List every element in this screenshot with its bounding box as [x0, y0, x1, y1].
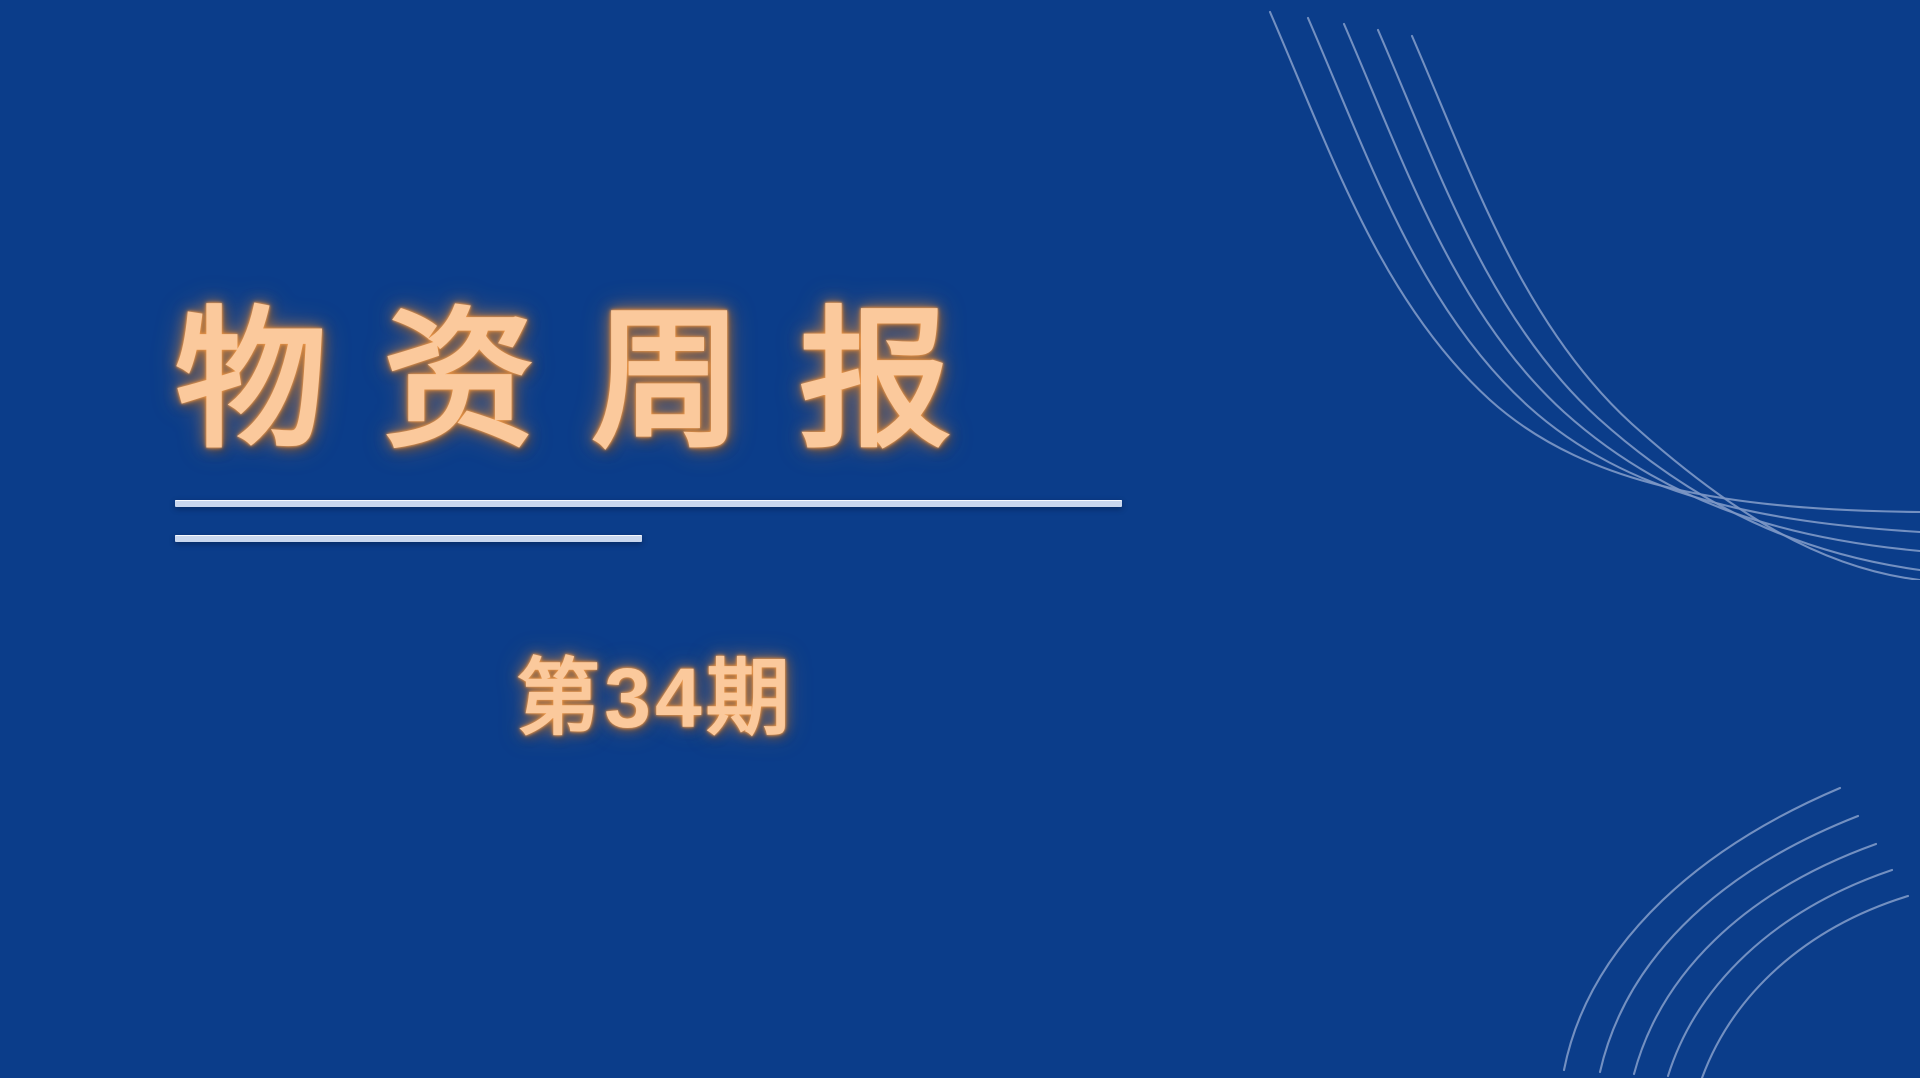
title-underline-long	[175, 500, 1122, 507]
title-block: 物资周报	[175, 296, 1135, 466]
ribbon-line-3	[1344, 24, 1920, 551]
slide-canvas: 物资周报 第34期	[0, 0, 1920, 1078]
ribbon-line-1	[1270, 12, 1920, 512]
ribbon-line-5	[1412, 36, 1920, 580]
arc-line-5	[1702, 896, 1908, 1078]
arc-line-4	[1668, 870, 1892, 1076]
ribbon-line-2	[1308, 18, 1920, 532]
page-title: 物资周报	[175, 296, 1135, 466]
issue-subtitle: 第34期	[175, 648, 1135, 749]
top-right-ribbon-lines	[1260, 0, 1920, 580]
ribbon-line-4	[1378, 30, 1920, 570]
title-underline-group	[175, 500, 1135, 542]
bottom-right-arc-lines	[1490, 728, 1920, 1078]
arc-line-3	[1634, 844, 1876, 1074]
arc-line-1	[1564, 788, 1840, 1070]
arc-line-2	[1600, 816, 1858, 1072]
title-underline-short	[175, 535, 642, 542]
